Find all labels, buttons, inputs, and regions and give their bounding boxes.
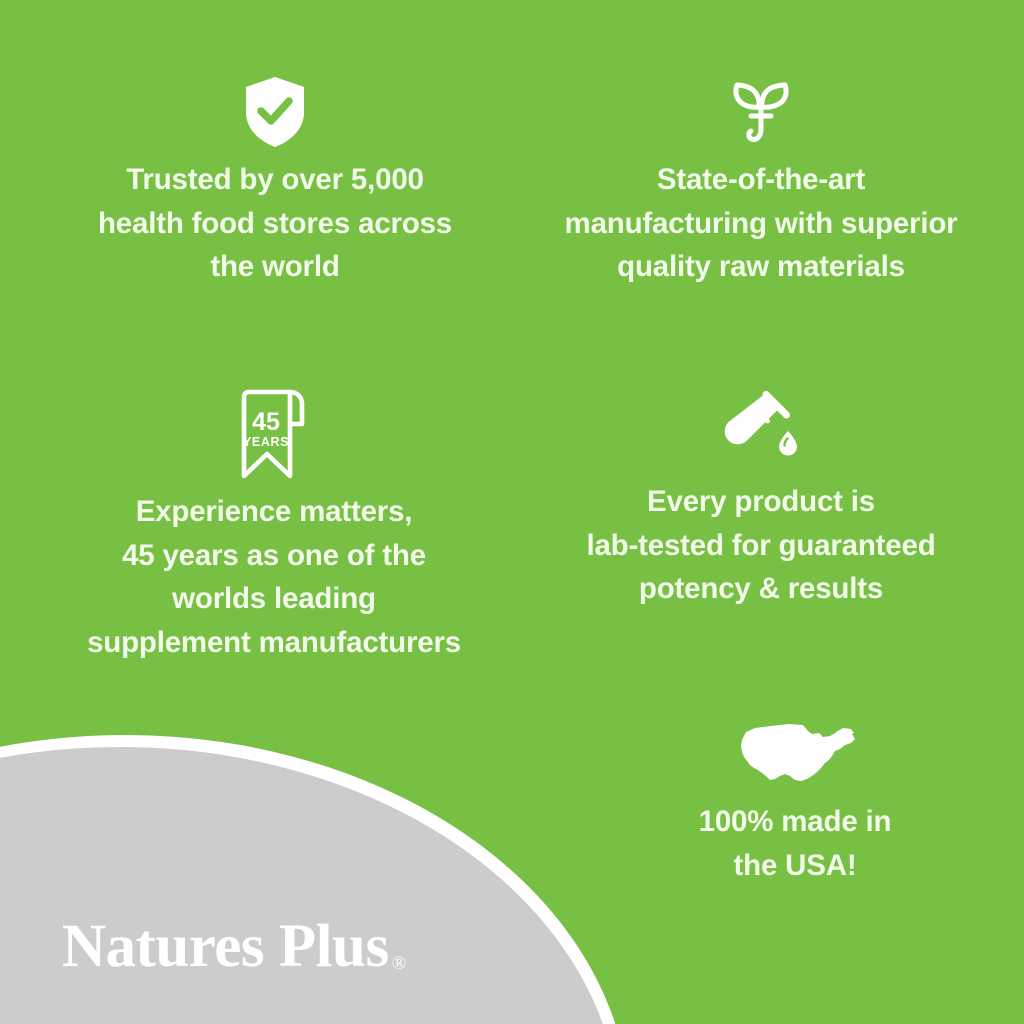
sprout-icon [728, 76, 794, 148]
feature-item-experience: 45 YEARS Experience matters, 45 years as… [36, 388, 512, 665]
ribbon-label: YEARS [243, 435, 289, 449]
usa-map-icon [733, 718, 858, 790]
feature-grid: Trusted by over 5,000 health food stores… [0, 0, 1024, 1024]
promo-graphic-canvas: Natures Plus ® Trusted by over 5,000 hea… [0, 0, 1024, 1024]
feature-text-experience: Experience matters, 45 years as one of t… [87, 490, 461, 665]
feature-item-trusted: Trusted by over 5,000 health food stores… [40, 76, 510, 289]
feature-item-made-in-usa: 100% made in the USA! [600, 718, 990, 887]
feature-item-lab-tested: Every product is lab-tested for guarante… [522, 388, 1000, 611]
brand-logo: Natures Plus ® [62, 916, 406, 977]
test-tube-droplet-icon [722, 388, 800, 470]
brand-logo-text: Natures Plus [62, 916, 389, 977]
shield-check-icon [244, 76, 306, 148]
feature-text-trusted: Trusted by over 5,000 health food stores… [98, 158, 452, 289]
feature-text-made-in-usa: 100% made in the USA! [699, 800, 892, 887]
feature-item-manufacturing: State-of-the-art manufacturing with supe… [520, 76, 1002, 289]
ribbon-number: 45 [252, 408, 280, 436]
anniversary-ribbon-icon: 45 YEARS [234, 388, 314, 480]
feature-text-manufacturing: State-of-the-art manufacturing with supe… [565, 158, 958, 289]
registered-trademark-icon: ® [392, 954, 406, 973]
feature-text-lab-tested: Every product is lab-tested for guarante… [586, 480, 935, 611]
